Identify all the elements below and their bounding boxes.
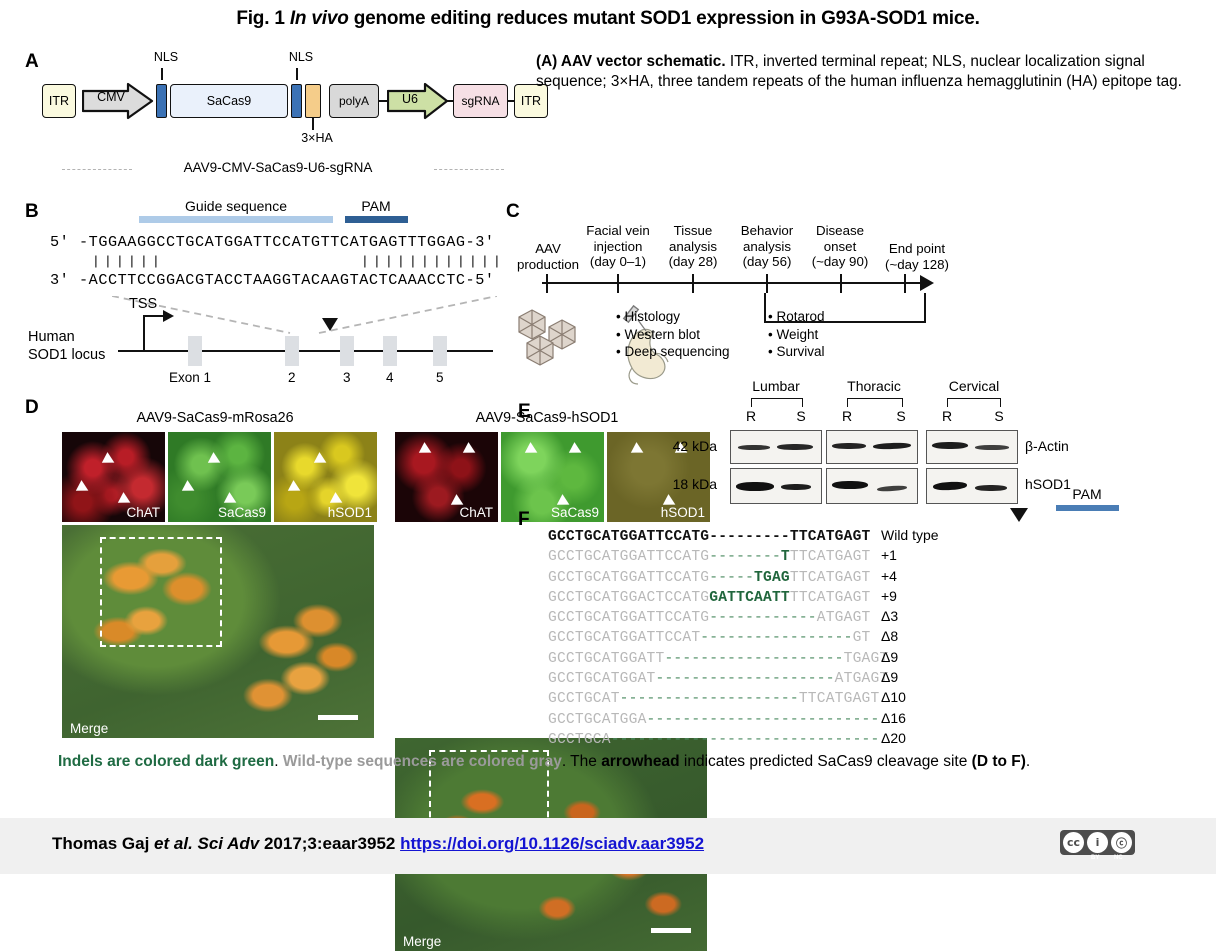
arrowhead-icon (525, 442, 540, 458)
citation-volume: 2017;3:eaar3952 (259, 834, 400, 853)
micro-hsod1-left: hSOD1 (274, 432, 377, 522)
cc-by-text: BY (1091, 855, 1099, 861)
title-italic: In vivo (290, 8, 349, 29)
blot-lane-cervical-r: R (937, 408, 957, 424)
blot-band (738, 445, 770, 450)
nls-right-tick (296, 68, 298, 80)
nls-left-tick (161, 68, 163, 80)
vector-itr-left: ITR (42, 84, 76, 118)
timeline-step-0-l2: production (510, 257, 586, 273)
exon-4 (383, 336, 397, 366)
alignment-sequence: GCCTGCATGGATTCCATG---------TTCATGAGT (548, 529, 870, 545)
vector-3xha-label: 3×HA (287, 131, 347, 145)
timeline-step-2-l3: (day 28) (656, 254, 730, 270)
blot-band (832, 481, 868, 489)
assay-western-blot: • Western blot (616, 326, 730, 344)
construct-dash-right (434, 169, 504, 170)
blot-region-cervical: Cervical (933, 378, 1015, 394)
micro-label-sacas9: SaCas9 (218, 505, 266, 520)
timeline-step-3-l2: analysis (730, 239, 804, 255)
timeline-arrow-head (920, 275, 934, 291)
indel-label: +1 (870, 547, 897, 563)
blot-lane-cervical-s: S (989, 408, 1009, 424)
panel-f-letter: F (518, 510, 530, 529)
tss-arrow-arm (143, 315, 165, 317)
panel-a-letter: A (25, 52, 39, 71)
exon-3 (340, 336, 354, 366)
timeline-step-3-l3: (day 56) (730, 254, 804, 270)
western-blot: Lumbar Thoracic Cervical R S R S R S 42 … (545, 378, 1205, 498)
legend-gray-note: Wild-type sequences are colored gray (283, 753, 562, 770)
table-row: GCCTGCATGGAT--------------------ATGAGT Δ… (548, 669, 1208, 689)
cleavage-site-arrowhead-f (1010, 508, 1028, 522)
blot-band (933, 481, 967, 491)
scale-bar (651, 928, 691, 933)
indel-label: Δ8 (870, 628, 898, 644)
timeline-step-2: Tissue analysis (day 28) (656, 223, 730, 270)
blot-band (781, 484, 811, 490)
legend-sep-2: . The (562, 753, 601, 770)
exon-5-label: 5 (436, 370, 444, 385)
blot-box-bactin-cervical (926, 430, 1018, 464)
timeline-tick-2 (692, 274, 694, 293)
cc-nc-text: NC (1114, 855, 1123, 861)
indel-label: +4 (870, 568, 897, 584)
indel-label: Δ3 (870, 608, 898, 624)
timeline-step-4-l3: (~day 90) (800, 254, 880, 270)
blot-box-hsod1-cervical (926, 468, 1018, 504)
exon-5 (433, 336, 447, 366)
panel-a-caption-bold: (A) AAV vector schematic. (536, 53, 726, 70)
blot-mw-42: 42 kDa (651, 438, 717, 454)
blot-lane-lumbar-r: R (741, 408, 761, 424)
micro-sacas9-left: SaCas9 (168, 432, 271, 522)
base-pair-bars-left: |||||| (92, 254, 164, 269)
doi-link[interactable]: https://doi.org/10.1126/sciadv.aar3952 (400, 834, 704, 853)
assay-weight: • Weight (768, 326, 825, 344)
vector-nls-right-label: NLS (271, 50, 331, 64)
indel-label: +9 (870, 588, 897, 604)
pam-label-b: PAM (341, 198, 411, 214)
timeline-step-0: AAV production (510, 241, 586, 272)
indel-label: Wild type (870, 527, 939, 543)
blot-band (736, 482, 774, 491)
aav-vector-schematic: ITR CMV NLS SaCas9 NLS 3×HA polyA U6 sgR… (42, 78, 512, 124)
alignment-sequence: GCCTGCATGGAT--------------------ATGAGT (548, 671, 870, 687)
timeline-step-2-l1: Tissue (656, 223, 730, 239)
timeline-step-1-l2: injection (580, 239, 656, 255)
legend-mid: indicates predicted SaCas9 cleavage site (680, 753, 972, 770)
exon-2-label: 2 (288, 370, 296, 385)
timeline-axis (542, 282, 922, 284)
exon-1 (188, 336, 202, 366)
micro-label-merge: Merge (403, 934, 441, 949)
aav-capsid-icon (518, 304, 602, 366)
micro-label-hsod1: hSOD1 (328, 505, 372, 520)
construct-dash-left (62, 169, 132, 170)
blot-band (877, 485, 907, 492)
table-row: GCCTGCATGGATTCCATG---------TTCATGAGT Wil… (548, 527, 1208, 547)
blot-band (832, 443, 866, 449)
locus-label-line2: SOD1 locus (28, 346, 105, 364)
title-rest: genome editing reduces mutant SOD1 expre… (349, 8, 980, 29)
timeline-step-1: Facial vein injection (day 0–1) (580, 223, 656, 270)
arrowhead-icon (419, 442, 434, 458)
arrowhead-icon (208, 452, 223, 468)
sequence-top-strand: 5' -TGGAAGGCCTGCATGGATTCCATGTTCATGAGTTTG… (50, 233, 495, 251)
timeline-tick-1 (617, 274, 619, 293)
cc-nc-icon: ⓒ (1111, 832, 1132, 853)
alignment-sequence: GCCTGCATGGA-------------------------- (548, 712, 870, 728)
cc-nc-group: ⓒ NC (1111, 832, 1132, 853)
blot-band (932, 442, 968, 449)
alignment-sequence: GCCTGCATGGACTCCATGGATTCAATTTTCATGAGT (548, 590, 870, 606)
panel-d-group-left-title: AAV9-SaCas9-mRosa26 (60, 410, 370, 426)
timeline-tick-5 (904, 274, 906, 293)
pam-bar-b (345, 216, 408, 223)
blot-band (975, 445, 1009, 450)
cc-icon: cc (1063, 832, 1084, 853)
timeline-tick-0 (546, 274, 548, 293)
figure-legend: Indels are colored dark green. Wild-type… (58, 752, 1188, 773)
timeline-step-5: End point (~day 128) (874, 241, 960, 272)
citation-journal: . Sci Adv (188, 834, 259, 853)
arrowhead-icon (314, 452, 329, 468)
legend-bold-arrowhead: arrowhead (601, 753, 679, 770)
blot-lane-lumbar-s: S (791, 408, 811, 424)
blot-protein-bactin: β-Actin (1025, 438, 1069, 454)
arrowhead-icon (102, 452, 117, 468)
tss-label: TSS (129, 296, 157, 312)
blot-band (975, 485, 1007, 491)
micro-chat-right: ChAT (395, 432, 498, 522)
indel-label: Δ10 (870, 689, 906, 705)
citation-etal: et al (154, 834, 188, 853)
alignment-sequence: GCCTGCA------------------------------ (548, 732, 870, 748)
alignment-sequence: GCCTGCATGGATT--------------------TGAGT (548, 651, 870, 667)
vector-cmv-label: CMV (82, 90, 140, 104)
guide-sequence-bar (139, 216, 333, 223)
vector-polya: polyA (329, 84, 379, 118)
indel-alignment-table: GCCTGCATGGATTCCATG---------TTCATGAGT Wil… (548, 527, 1208, 750)
blot-box-bactin-lumbar (730, 430, 822, 464)
cc-by-group: i BY (1087, 832, 1108, 853)
table-row: GCCTGCAT--------------------TTCATGAGT Δ1… (548, 689, 1208, 709)
legend-bold-panels: (D to F) (972, 753, 1026, 770)
timeline-tick-4 (840, 274, 842, 293)
arrowhead-icon (288, 480, 303, 496)
behavior-assay-brace (764, 293, 926, 323)
citation: Thomas Gaj et al. Sci Adv 2017;3:eaar395… (52, 834, 704, 854)
table-row: GCCTGCATGGATTCCAT-----------------GT Δ8 (548, 628, 1208, 648)
vector-nls-left (156, 84, 167, 118)
micro-label-sacas9: SaCas9 (551, 505, 599, 520)
blot-brace-thoracic (847, 398, 903, 407)
pam-label-f: PAM (1052, 486, 1122, 502)
tss-arrow-head (163, 310, 174, 322)
assay-deep-sequencing: • Deep sequencing (616, 343, 730, 361)
micro-label-chat: ChAT (126, 505, 160, 520)
tss-arrow-stem (143, 315, 145, 352)
locus-label-line1: Human (28, 328, 105, 346)
alignment-sequence: GCCTGCATGGATTCCATG-----TGAGTTCATGAGT (548, 570, 870, 586)
indel-label: Δ16 (870, 710, 906, 726)
alignment-sequence: GCCTGCATGGATTCCATG--------TTTCATGAGT (548, 549, 870, 565)
micro-chat-left: ChAT (62, 432, 165, 522)
blot-lane-thoracic-s: S (891, 408, 911, 424)
indel-label: Δ9 (870, 649, 898, 665)
arrowhead-icon (463, 442, 478, 458)
ha-tick (312, 118, 314, 130)
alignment-sequence: GCCTGCATGGATTCCATG------------ATGAGT (548, 610, 870, 626)
base-pair-bars-right: |||||||||||| (361, 254, 505, 269)
alignment-sequence: GCCTGCAT--------------------TTCATGAGT (548, 691, 870, 707)
blot-region-thoracic: Thoracic (831, 378, 917, 394)
timeline-step-1-l1: Facial vein (580, 223, 656, 239)
vector-nls-right (291, 84, 302, 118)
table-row: GCCTGCATGGATTCCATG------------ATGAGT Δ3 (548, 608, 1208, 628)
assay-histology: • Histology (616, 308, 730, 326)
indel-label: Δ9 (870, 669, 898, 685)
cc-by-icon: i (1087, 832, 1108, 853)
indel-label: Δ20 (870, 730, 906, 746)
panel-b-letter: B (25, 202, 39, 221)
micro-label-hsod1: hSOD1 (661, 505, 705, 520)
exon-1-label: Exon 1 (169, 370, 211, 385)
creative-commons-badge: cc i BY ⓒ NC (1060, 830, 1135, 855)
blot-lane-thoracic-r: R (837, 408, 857, 424)
experimental-timeline: AAV production Facial vein injection (da… (500, 196, 970, 386)
vector-sgrna: sgRNA (453, 84, 508, 118)
blot-box-hsod1-lumbar (730, 468, 822, 504)
timeline-step-4-l2: onset (800, 239, 880, 255)
citation-authors: Thomas Gaj (52, 834, 154, 853)
timeline-step-1-l3: (day 0–1) (580, 254, 656, 270)
footer-bar: Thomas Gaj et al. Sci Adv 2017;3:eaar395… (0, 818, 1216, 874)
cleavage-site-arrowhead-b (322, 318, 338, 331)
exon-3-label: 3 (343, 370, 351, 385)
table-row: GCCTGCATGGATTCCATG-----TGAGTTCATGAGT +4 (548, 568, 1208, 588)
guide-sequence-label: Guide sequence (139, 198, 333, 214)
legend-end: . (1026, 753, 1030, 770)
exon-2 (285, 336, 299, 366)
arrowhead-icon (182, 480, 197, 496)
timeline-step-5-l1: End point (874, 241, 960, 257)
locus-label: Human SOD1 locus (28, 328, 105, 364)
timeline-step-3: Behavior analysis (day 56) (730, 223, 804, 270)
blot-brace-cervical (947, 398, 1001, 407)
micro-label-merge: Merge (70, 721, 108, 736)
vector-nls-left-label: NLS (136, 50, 196, 64)
blot-mw-18: 18 kDa (651, 476, 717, 492)
vector-u6-label: U6 (390, 92, 430, 106)
alignment-sequence: GCCTGCATGGATTCCAT-----------------GT (548, 630, 870, 646)
figure-title: Fig. 1 In vivo genome editing reduces mu… (0, 8, 1216, 30)
inset-region-box (100, 537, 222, 647)
construct-name-row: AAV9-CMV-SaCas9-U6-sgRNA (42, 160, 512, 178)
sequence-bottom-strand: 3' -ACCTTCCGGACGTACCTAAGGTACAAGTACTCAAAC… (50, 271, 495, 289)
timeline-step-4: Disease onset (~day 90) (800, 223, 880, 270)
panel-d-left-channel-row: ChAT SaCas9 hSOD1 (62, 432, 377, 522)
blot-brace-lumbar (751, 398, 803, 407)
assay-survival: • Survival (768, 343, 825, 361)
blot-band (777, 444, 813, 450)
table-row: GCCTGCATGGATT--------------------TGAGT Δ… (548, 649, 1208, 669)
table-row: GCCTGCATGGA-------------------------- Δ1… (548, 710, 1208, 730)
assays-left: • Histology • Western blot • Deep sequen… (616, 308, 730, 361)
sod1-locus-diagram: Human SOD1 locus TSS Exon 1 2 3 4 5 (28, 300, 498, 386)
arrowhead-icon (76, 480, 91, 496)
panel-a-caption: (A) AAV vector schematic. ITR, inverted … (536, 52, 1206, 92)
blot-band (873, 442, 911, 449)
blot-box-hsod1-thoracic (826, 468, 918, 504)
timeline-step-5-l2: (~day 128) (874, 257, 960, 273)
pam-bar-f (1056, 505, 1119, 511)
table-row: GCCTGCA------------------------------ Δ2… (548, 730, 1208, 750)
construct-name: AAV9-CMV-SaCas9-U6-sgRNA (128, 160, 428, 175)
vector-3xha (305, 84, 321, 118)
timeline-tick-3 (766, 274, 768, 293)
title-prefix: Fig. 1 (236, 8, 290, 29)
panel-e-letter: E (518, 402, 531, 421)
timeline-step-2-l2: analysis (656, 239, 730, 255)
timeline-step-0-l1: AAV (510, 241, 586, 257)
legend-sep-1: . (274, 753, 283, 770)
timeline-step-3-l1: Behavior (730, 223, 804, 239)
table-row: GCCTGCATGGACTCCATGGATTCAATTTTCATGAGT +9 (548, 588, 1208, 608)
panel-d-letter: D (25, 398, 39, 417)
legend-green-note: Indels are colored dark green (58, 753, 274, 770)
micro-merge-left: Merge (62, 525, 374, 738)
table-row: GCCTGCATGGATTCCATG--------TTTCATGAGT +1 (548, 547, 1208, 567)
blot-region-lumbar: Lumbar (737, 378, 815, 394)
blot-box-bactin-thoracic (826, 430, 918, 464)
vector-sacas9: SaCas9 (170, 84, 288, 118)
scale-bar (318, 715, 358, 720)
cc-badge-inner: cc i BY ⓒ NC (1060, 830, 1135, 855)
micro-label-chat: ChAT (459, 505, 493, 520)
exon-4-label: 4 (386, 370, 394, 385)
timeline-step-4-l1: Disease (800, 223, 880, 239)
